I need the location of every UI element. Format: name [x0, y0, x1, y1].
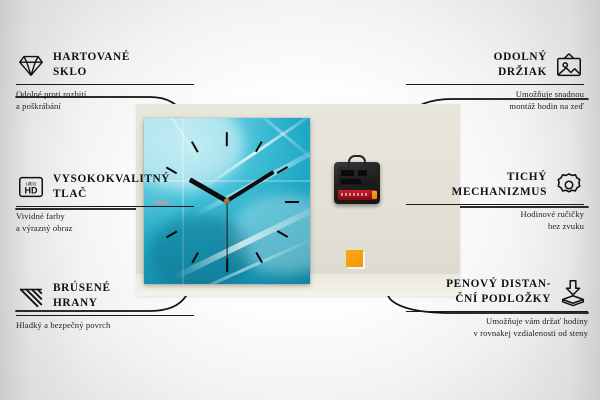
- ultra-hd-icon: ultra HD: [16, 172, 46, 202]
- feature-header: ultra HD VYSOKOKVALITNÝTLAČ: [16, 172, 194, 202]
- feature-title: HARTOVANÉSKLO: [53, 50, 130, 80]
- diamond-icon: [16, 50, 46, 80]
- feature-ground-edges: BRÚSENÉHRANY Hladký a bezpečný povrch: [16, 281, 194, 331]
- feature-title: TICHÝMECHANIZMUS: [452, 170, 547, 200]
- arrow-onto-stack-icon: [558, 277, 588, 307]
- feature-high-quality-print: ultra HD VYSOKOKVALITNÝTLAČ Vividné farb…: [16, 172, 194, 235]
- feature-divider: [16, 206, 194, 207]
- feature-header: HARTOVANÉSKLO: [16, 50, 194, 80]
- movement-slot-3: [341, 179, 361, 184]
- feature-divider: [406, 311, 588, 312]
- tick-12: [226, 132, 228, 146]
- feature-title: PENOVÝ DISTAN-ČNÍ PODLOŽKY: [446, 277, 551, 307]
- feature-description: Vividné farbya výrazný obraz: [16, 210, 194, 235]
- clock-movement: [334, 162, 380, 204]
- battery-terminal: [372, 191, 377, 199]
- feature-tempered-glass: HARTOVANÉSKLO Odolné proti rozbitía pošk…: [16, 50, 194, 113]
- feature-foam-spacer-pads: PENOVÝ DISTAN-ČNÍ PODLOŽKY Umožňuje vám …: [406, 277, 588, 340]
- feature-silent-mechanism: TICHÝMECHANIZMUS Hodinové ručičkybez zvu…: [406, 170, 584, 233]
- feature-title: VYSOKOKVALITNÝTLAČ: [53, 172, 170, 202]
- movement-hanger-loop: [348, 155, 366, 166]
- feature-header: BRÚSENÉHRANY: [16, 281, 194, 311]
- feature-header: ODOLNÝDRŽIAK: [406, 50, 584, 80]
- ground-edges-icon: [16, 281, 46, 311]
- feature-title: BRÚSENÉHRANY: [53, 281, 111, 311]
- feature-divider: [16, 84, 194, 85]
- feature-description: Odolné proti rozbitía poškrábání: [16, 88, 194, 113]
- feature-title: ODOLNÝDRŽIAK: [494, 50, 547, 80]
- feature-durable-hanger: ODOLNÝDRŽIAK Umožňuje snadnoumontáž hodi…: [406, 50, 584, 113]
- feature-description: Hladký a bezpečný povrch: [16, 319, 194, 331]
- clock-center-pin: [224, 198, 230, 204]
- feature-header: PENOVÝ DISTAN-ČNÍ PODLOŽKY: [406, 277, 588, 307]
- feature-divider: [406, 204, 584, 205]
- feature-header: TICHÝMECHANIZMUS: [406, 170, 584, 200]
- aa-battery: [338, 190, 376, 200]
- infographic-canvas: HARTOVANÉSKLO Odolné proti rozbitía pošk…: [0, 0, 600, 400]
- foam-spacer-pad: [346, 250, 363, 267]
- movement-slot-2: [358, 170, 367, 176]
- picture-frame-hanger-icon: [554, 50, 584, 80]
- svg-text:HD: HD: [25, 186, 38, 196]
- battery-label: [341, 193, 369, 196]
- feature-description: Hodinové ručičkybez zvuku: [406, 208, 584, 233]
- tick-3: [285, 201, 299, 203]
- feature-divider: [16, 315, 194, 316]
- feature-description: Umožňuje snadnoumontáž hodin na zeď: [406, 88, 584, 113]
- feature-description: Umožňuje vám držať hodinyv rovnakej vzdi…: [406, 315, 588, 340]
- movement-slot-1: [341, 170, 354, 176]
- feature-divider: [406, 84, 584, 85]
- clock-second-hand: [226, 201, 227, 263]
- gear-icon: [554, 170, 584, 200]
